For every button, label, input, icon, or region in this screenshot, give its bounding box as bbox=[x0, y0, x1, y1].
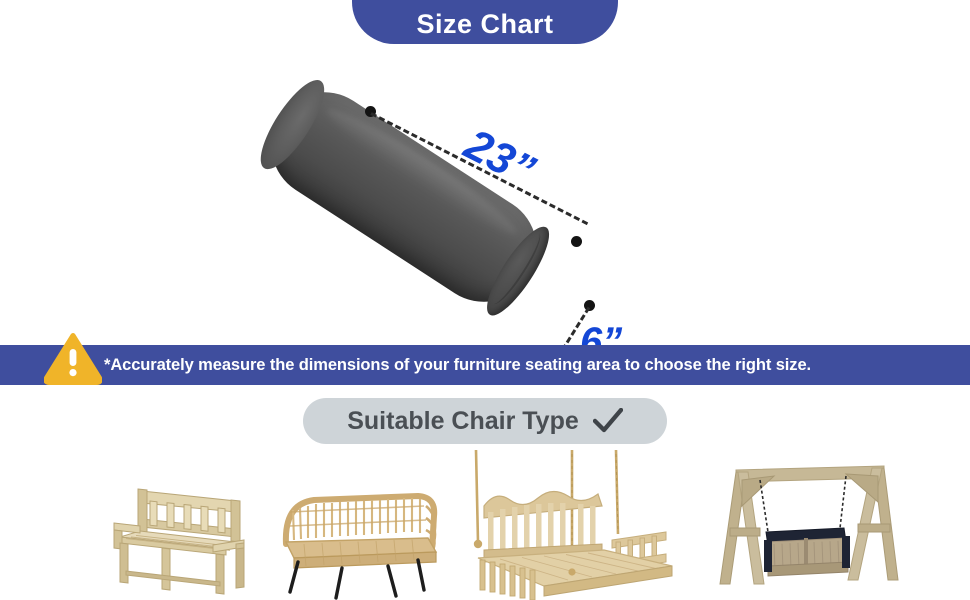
warning-text: *Accurately measure the dimensions of yo… bbox=[104, 357, 811, 374]
list-item bbox=[100, 475, 260, 600]
list-item bbox=[452, 450, 677, 600]
bolster-cylinder bbox=[251, 72, 557, 322]
bolster-pillow-illustration bbox=[248, 66, 598, 326]
list-item bbox=[268, 482, 443, 600]
suitable-chair-type-title: Suitable Chair Type bbox=[347, 409, 579, 434]
hero-product-section: 23” 6” bbox=[0, 44, 970, 345]
suitable-furniture-list bbox=[0, 445, 970, 600]
a-frame-porch-swing-stand-image bbox=[708, 450, 908, 600]
suitable-chair-type-section: Suitable Chair Type bbox=[0, 385, 970, 600]
size-chart-header-pill: Size Chart bbox=[352, 0, 618, 44]
warning-triangle-icon bbox=[44, 333, 102, 385]
size-chart-infographic: 23” 6” Size Chart *Accurately measure th… bbox=[0, 0, 970, 600]
page-title: Size Chart bbox=[416, 11, 553, 38]
wooden-garden-bench-image bbox=[100, 475, 260, 600]
checkmark-icon bbox=[593, 408, 623, 434]
hanging-porch-swing-bed-image bbox=[452, 450, 677, 600]
list-item bbox=[708, 450, 908, 600]
suitable-chair-type-pill: Suitable Chair Type bbox=[303, 398, 667, 444]
measurement-warning-banner: *Accurately measure the dimensions of yo… bbox=[0, 345, 970, 385]
rattan-wicker-sofa-image bbox=[268, 482, 443, 600]
length-dimension-dot-end bbox=[571, 236, 582, 247]
